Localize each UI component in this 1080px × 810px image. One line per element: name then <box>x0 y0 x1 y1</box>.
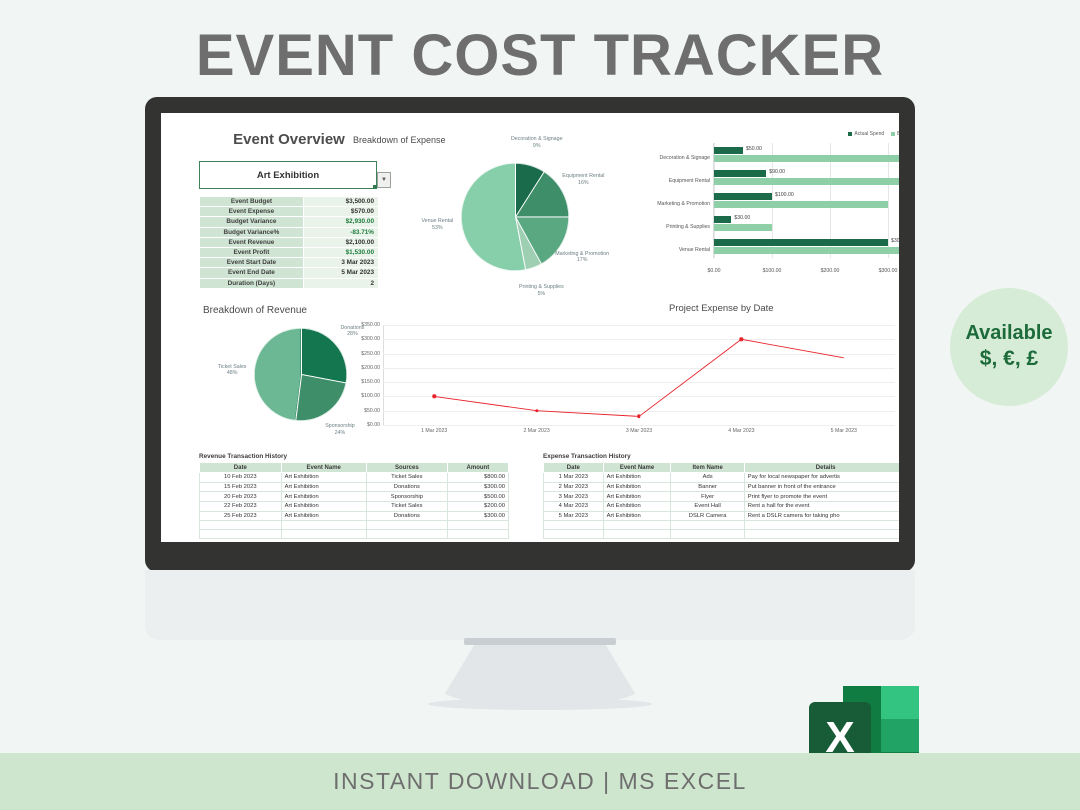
stats-value: 2 <box>303 278 378 288</box>
table-cell <box>544 530 604 539</box>
stats-label: Event Budget <box>200 197 304 207</box>
table-cell: Ticket Sales <box>366 473 447 483</box>
bar-budget <box>714 247 899 254</box>
table-row[interactable]: 25 Feb 2023Art ExhibitionDonations$300.0… <box>200 511 509 521</box>
bar-chart-category-label: Printing & Supplies <box>666 224 710 230</box>
table-cell <box>447 530 508 539</box>
line-chart-x-label: 3 Mar 2023 <box>626 428 652 434</box>
table-cell: Pay for local newspaper for advertis <box>744 473 899 483</box>
table-cell: 2 Mar 2023 <box>544 482 604 492</box>
table-cell: Sponsorship <box>366 492 447 502</box>
legend-swatch <box>891 132 895 136</box>
stats-value: $1,530.00 <box>303 247 378 257</box>
bar-budget <box>714 178 899 185</box>
table-row[interactable] <box>200 521 509 530</box>
table-cell: Banner <box>671 482 744 492</box>
stats-value: 5 Mar 2023 <box>303 268 378 278</box>
pie-slice-divider <box>301 328 302 375</box>
table-cell: 20 Feb 2023 <box>200 492 282 502</box>
pie-slice-divider <box>515 171 545 217</box>
table-cell: Art Exhibition <box>281 482 366 492</box>
bar-value-label: $50.00 <box>746 146 762 152</box>
pie-slice-label: Ticket Sales48% <box>198 364 266 377</box>
table-cell <box>281 530 366 539</box>
stats-row: Budget Variance%-83.71% <box>200 227 379 237</box>
table-cell: $300.00 <box>447 511 508 521</box>
table-cell: Donations <box>366 511 447 521</box>
table-cell: Donations <box>366 482 447 492</box>
event-stats-table: Event Budget$3,500.00Event Expense$570.0… <box>199 196 379 289</box>
stats-label: Event Start Date <box>200 258 304 268</box>
column-header: Item Name <box>671 463 744 473</box>
bar-chart-category-label: Equipment Rental <box>669 178 710 184</box>
stats-label: Budget Variance <box>200 217 304 227</box>
monitor-chin <box>145 570 915 640</box>
pie-slice-label: Equipment Rental16% <box>549 173 617 186</box>
stats-row: Event Budget$3,500.00 <box>200 197 379 207</box>
pie-slice-label: Venue Rental53% <box>403 218 471 231</box>
bar-chart-category-label: Marketing & Promotion <box>657 201 710 207</box>
line-chart-y-label: $200.00 <box>361 365 380 371</box>
table-cell: 5 Mar 2023 <box>544 511 604 521</box>
revenue-table-caption: Revenue Transaction History <box>199 453 509 460</box>
legend-swatch <box>848 132 852 136</box>
table-row[interactable]: 2 Mar 2023Art ExhibitionBannerPut banner… <box>544 482 900 492</box>
stats-label: Event Profit <box>200 247 304 257</box>
bar-actual-spend <box>714 170 766 177</box>
stats-row: Event Start Date3 Mar 2023 <box>200 258 379 268</box>
bar-chart-x-label: $0.00 <box>708 268 721 274</box>
column-header: Amount <box>447 463 508 473</box>
table-cell: 3 Mar 2023 <box>544 492 604 502</box>
line-chart-x-label: 1 Mar 2023 <box>421 428 447 434</box>
legend-item: Actual Spend <box>848 131 884 137</box>
bar-actual-spend <box>714 147 743 154</box>
table-cell: Art Exhibition <box>281 501 366 511</box>
page-title: EVENT COST TRACKER <box>0 22 1080 89</box>
pie-slice-divider <box>516 216 570 217</box>
stats-label: Event End Date <box>200 268 304 278</box>
cell-fill-handle <box>373 185 377 189</box>
line-chart-x-label: 5 Mar 2023 <box>831 428 857 434</box>
monitor-stand-foot <box>428 698 652 710</box>
table-cell: Flyer <box>671 492 744 502</box>
table-cell: DSLR Camera <box>671 511 744 521</box>
stats-label: Event Expense <box>200 207 304 217</box>
line-chart-y-label: $250.00 <box>361 351 380 357</box>
table-row[interactable]: 3 Mar 2023Art ExhibitionFlyerPrint flyer… <box>544 492 900 502</box>
actual-spend-vs-budget-chart: Actual SpendBudget $0.00$100.00$200.00$3… <box>641 131 899 276</box>
pie-slice-divider <box>515 163 516 217</box>
currency-availability-badge: Available $, €, £ <box>950 288 1068 406</box>
stats-label: Budget Variance% <box>200 227 304 237</box>
bar-actual-spend <box>714 239 888 246</box>
table-row[interactable]: 10 Feb 2023Art ExhibitionTicket Sales$80… <box>200 473 509 483</box>
column-header: Event Name <box>281 463 366 473</box>
expense-transaction-history: Expense Transaction History DateEvent Na… <box>543 453 899 539</box>
bar-chart-x-label: $100.00 <box>763 268 782 274</box>
line-chart-x-label: 2 Mar 2023 <box>523 428 549 434</box>
table-cell <box>744 530 899 539</box>
event-selector-value: Art Exhibition <box>257 170 319 181</box>
table-cell: Art Exhibition <box>603 473 671 483</box>
stats-value: $3,500.00 <box>303 197 378 207</box>
bar-value-label: $30.00 <box>734 215 750 221</box>
table-cell <box>671 521 744 530</box>
table-cell: Art Exhibition <box>281 473 366 483</box>
table-cell <box>671 530 744 539</box>
table-cell: 25 Feb 2023 <box>200 511 282 521</box>
stats-value: $570.00 <box>303 207 378 217</box>
monitor-frame: Event Overview Art Exhibition ▼ Event Bu… <box>145 97 915 572</box>
table-cell: Event Hall <box>671 501 744 511</box>
bar-value-label: $100.00 <box>775 192 794 198</box>
table-cell <box>744 521 899 530</box>
table-cell: Art Exhibition <box>603 492 671 502</box>
project-expense-line-chart: $0.00$50.00$100.00$150.00$200.00$250.00$… <box>341 313 899 441</box>
footer-banner: INSTANT DOWNLOAD | MS EXCEL <box>0 753 1080 810</box>
revenue-table: DateEvent NameSourcesAmount 10 Feb 2023A… <box>199 462 509 539</box>
stats-row: Event End Date5 Mar 2023 <box>200 268 379 278</box>
line-chart-gridline <box>383 425 895 426</box>
footer-text: INSTANT DOWNLOAD | MS EXCEL <box>333 768 747 795</box>
pie-slice-divider <box>301 374 347 384</box>
badge-line-1: Available <box>965 321 1052 346</box>
bar-chart-category-label: Decoration & Signage <box>660 155 710 161</box>
expense-table-caption: Expense Transaction History <box>543 453 899 460</box>
expense-table: DateEvent NameItem NameDetailsCategory 1… <box>543 462 899 539</box>
pie-slice-label: Printing & Supplies5% <box>507 284 575 297</box>
stats-value: 3 Mar 2023 <box>303 258 378 268</box>
table-row[interactable]: 5 Mar 2023Art ExhibitionDSLR CameraRent … <box>544 511 900 521</box>
table-cell: Art Exhibition <box>603 501 671 511</box>
table-cell: Rent a DSLR camera for taking pho <box>744 511 899 521</box>
bar-chart-category-label: Venue Rental <box>679 247 710 253</box>
table-cell: 4 Mar 2023 <box>544 501 604 511</box>
bar-value-label: $300.00 <box>891 238 899 244</box>
spreadsheet-dashboard: Event Overview Art Exhibition ▼ Event Bu… <box>161 113 899 542</box>
line-chart-y-label: $50.00 <box>364 408 380 414</box>
table-row[interactable]: 15 Feb 2023Art ExhibitionDonations$300.0… <box>200 482 509 492</box>
table-cell <box>366 530 447 539</box>
bar-budget <box>714 155 899 162</box>
chevron-down-icon[interactable]: ▼ <box>377 172 391 188</box>
stats-row: Event Profit$1,530.00 <box>200 247 379 257</box>
table-cell: Ads <box>671 473 744 483</box>
revenue-transaction-history: Revenue Transaction History DateEvent Na… <box>199 453 509 539</box>
table-row[interactable]: 4 Mar 2023Art ExhibitionEvent HallRent a… <box>544 501 900 511</box>
stats-row: Event Revenue$2,100.00 <box>200 237 379 247</box>
line-chart-series <box>383 325 895 425</box>
table-cell <box>281 521 366 530</box>
table-cell: 10 Feb 2023 <box>200 473 282 483</box>
stats-label: Duration (Days) <box>200 278 304 288</box>
table-cell: $300.00 <box>447 482 508 492</box>
table-cell <box>447 521 508 530</box>
pie-slice-label: Decoration & Signage9% <box>503 136 571 149</box>
table-cell: Art Exhibition <box>281 492 366 502</box>
table-row[interactable]: 22 Feb 2023Art ExhibitionTicket Sales$20… <box>200 501 509 511</box>
bar-value-label: $90.00 <box>769 169 785 175</box>
table-row[interactable]: 1 Mar 2023Art ExhibitionAdsPay for local… <box>544 473 900 483</box>
table-cell: Ticket Sales <box>366 501 447 511</box>
table-cell <box>603 521 671 530</box>
table-cell: Art Exhibition <box>603 482 671 492</box>
column-header: Event Name <box>603 463 671 473</box>
table-cell: Put banner in front of the entrance <box>744 482 899 492</box>
table-cell: Art Exhibition <box>603 511 671 521</box>
table-cell: Art Exhibition <box>281 511 366 521</box>
table-cell: Rent a hall for the event <box>744 501 899 511</box>
stats-label: Event Revenue <box>200 237 304 247</box>
bar-budget <box>714 224 772 231</box>
table-cell <box>200 521 282 530</box>
monitor-stand-top <box>464 638 616 645</box>
legend-item: Budget <box>891 131 899 137</box>
line-chart-y-label: $150.00 <box>361 379 380 385</box>
table-cell <box>603 530 671 539</box>
breakdown-of-expense-title: Breakdown of Expense <box>353 135 446 145</box>
table-cell <box>366 521 447 530</box>
table-cell: $800.00 <box>447 473 508 483</box>
line-chart-y-label: $300.00 <box>361 336 380 342</box>
bar-actual-spend <box>714 193 772 200</box>
table-cell: 1 Mar 2023 <box>544 473 604 483</box>
bar-chart-x-label: $300.00 <box>879 268 898 274</box>
table-cell: $500.00 <box>447 492 508 502</box>
line-chart-y-label: $100.00 <box>361 393 380 399</box>
line-chart-x-label: 4 Mar 2023 <box>728 428 754 434</box>
monitor-screen: Event Overview Art Exhibition ▼ Event Bu… <box>161 113 899 542</box>
bar-chart-legend: Actual SpendBudget <box>848 131 899 137</box>
stats-value: $2,930.00 <box>303 217 378 227</box>
table-cell <box>544 521 604 530</box>
table-cell <box>200 530 282 539</box>
column-header: Details <box>744 463 899 473</box>
stats-row: Budget Variance$2,930.00 <box>200 217 379 227</box>
stats-row: Event Expense$570.00 <box>200 207 379 217</box>
stats-row: Duration (Days)2 <box>200 278 379 288</box>
table-row[interactable] <box>544 530 900 539</box>
line-chart-y-label: $350.00 <box>361 322 380 328</box>
table-row[interactable] <box>200 530 509 539</box>
stats-value: -83.71% <box>303 227 378 237</box>
line-chart-y-label: $0.00 <box>367 422 380 428</box>
table-row[interactable]: 20 Feb 2023Art ExhibitionSponsorship$500… <box>200 492 509 502</box>
table-row[interactable] <box>544 521 900 530</box>
column-header: Date <box>200 463 282 473</box>
pie-slice-label: Marketing & Promotion17% <box>548 251 616 264</box>
table-cell: 22 Feb 2023 <box>200 501 282 511</box>
table-cell: 15 Feb 2023 <box>200 482 282 492</box>
column-header: Date <box>544 463 604 473</box>
table-cell: $200.00 <box>447 501 508 511</box>
column-header: Sources <box>366 463 447 473</box>
event-selector[interactable]: Art Exhibition <box>199 161 377 189</box>
bar-actual-spend <box>714 216 731 223</box>
table-cell: Print flyer to promote the event <box>744 492 899 502</box>
revenue-pie-chart <box>254 328 347 421</box>
badge-line-2: $, €, £ <box>980 346 1038 372</box>
stats-value: $2,100.00 <box>303 237 378 247</box>
bar-chart-x-label: $200.00 <box>821 268 840 274</box>
breakdown-of-revenue-title: Breakdown of Revenue <box>203 305 307 316</box>
bar-budget <box>714 201 888 208</box>
pie-slice-divider <box>295 374 302 420</box>
